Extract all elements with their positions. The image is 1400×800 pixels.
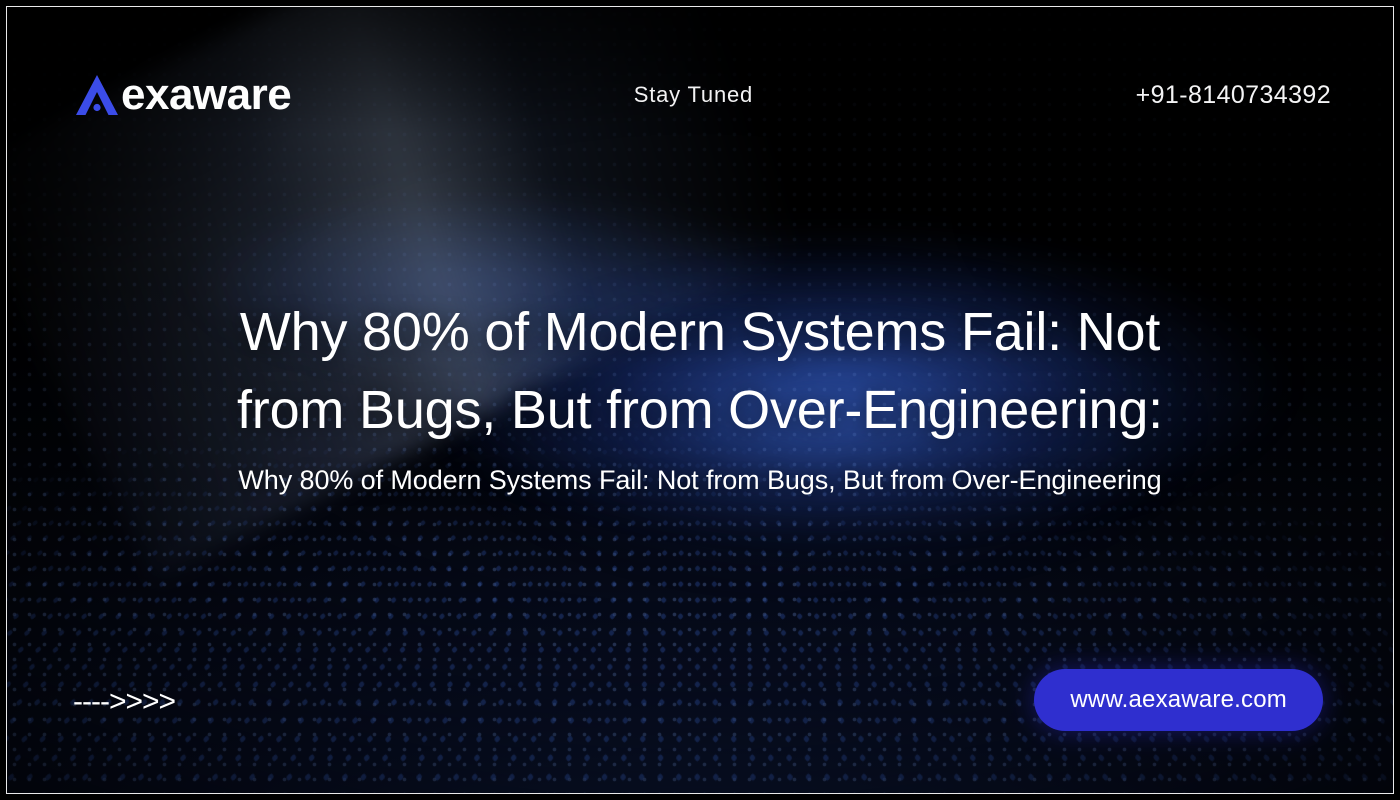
- headline-line-1: Why 80% of Modern Systems Fail: Not: [170, 293, 1230, 371]
- aexaware-a-mark-icon: [73, 71, 121, 119]
- headline-block: Why 80% of Modern Systems Fail: Not from…: [7, 293, 1393, 497]
- arrow-cta: ---->>>>: [73, 687, 175, 717]
- header-phone-number[interactable]: +91-8140734392: [1136, 81, 1331, 110]
- website-url-pill[interactable]: www.aexaware.com: [1034, 669, 1323, 731]
- banner-frame: exaware Stay Tuned +91-8140734392 Why 80…: [6, 6, 1394, 794]
- banner-root: exaware Stay Tuned +91-8140734392 Why 80…: [0, 0, 1400, 800]
- arrow-chevrons-icon: ---->>>>: [73, 687, 175, 717]
- headline-line-2: from Bugs, But from Over-Engineering:: [170, 371, 1230, 449]
- headline: Why 80% of Modern Systems Fail: Not from…: [170, 293, 1230, 449]
- subheadline: Why 80% of Modern Systems Fail: Not from…: [77, 463, 1323, 497]
- header-bar: exaware Stay Tuned +91-8140734392: [7, 65, 1393, 125]
- header-tagline: Stay Tuned: [251, 82, 1135, 108]
